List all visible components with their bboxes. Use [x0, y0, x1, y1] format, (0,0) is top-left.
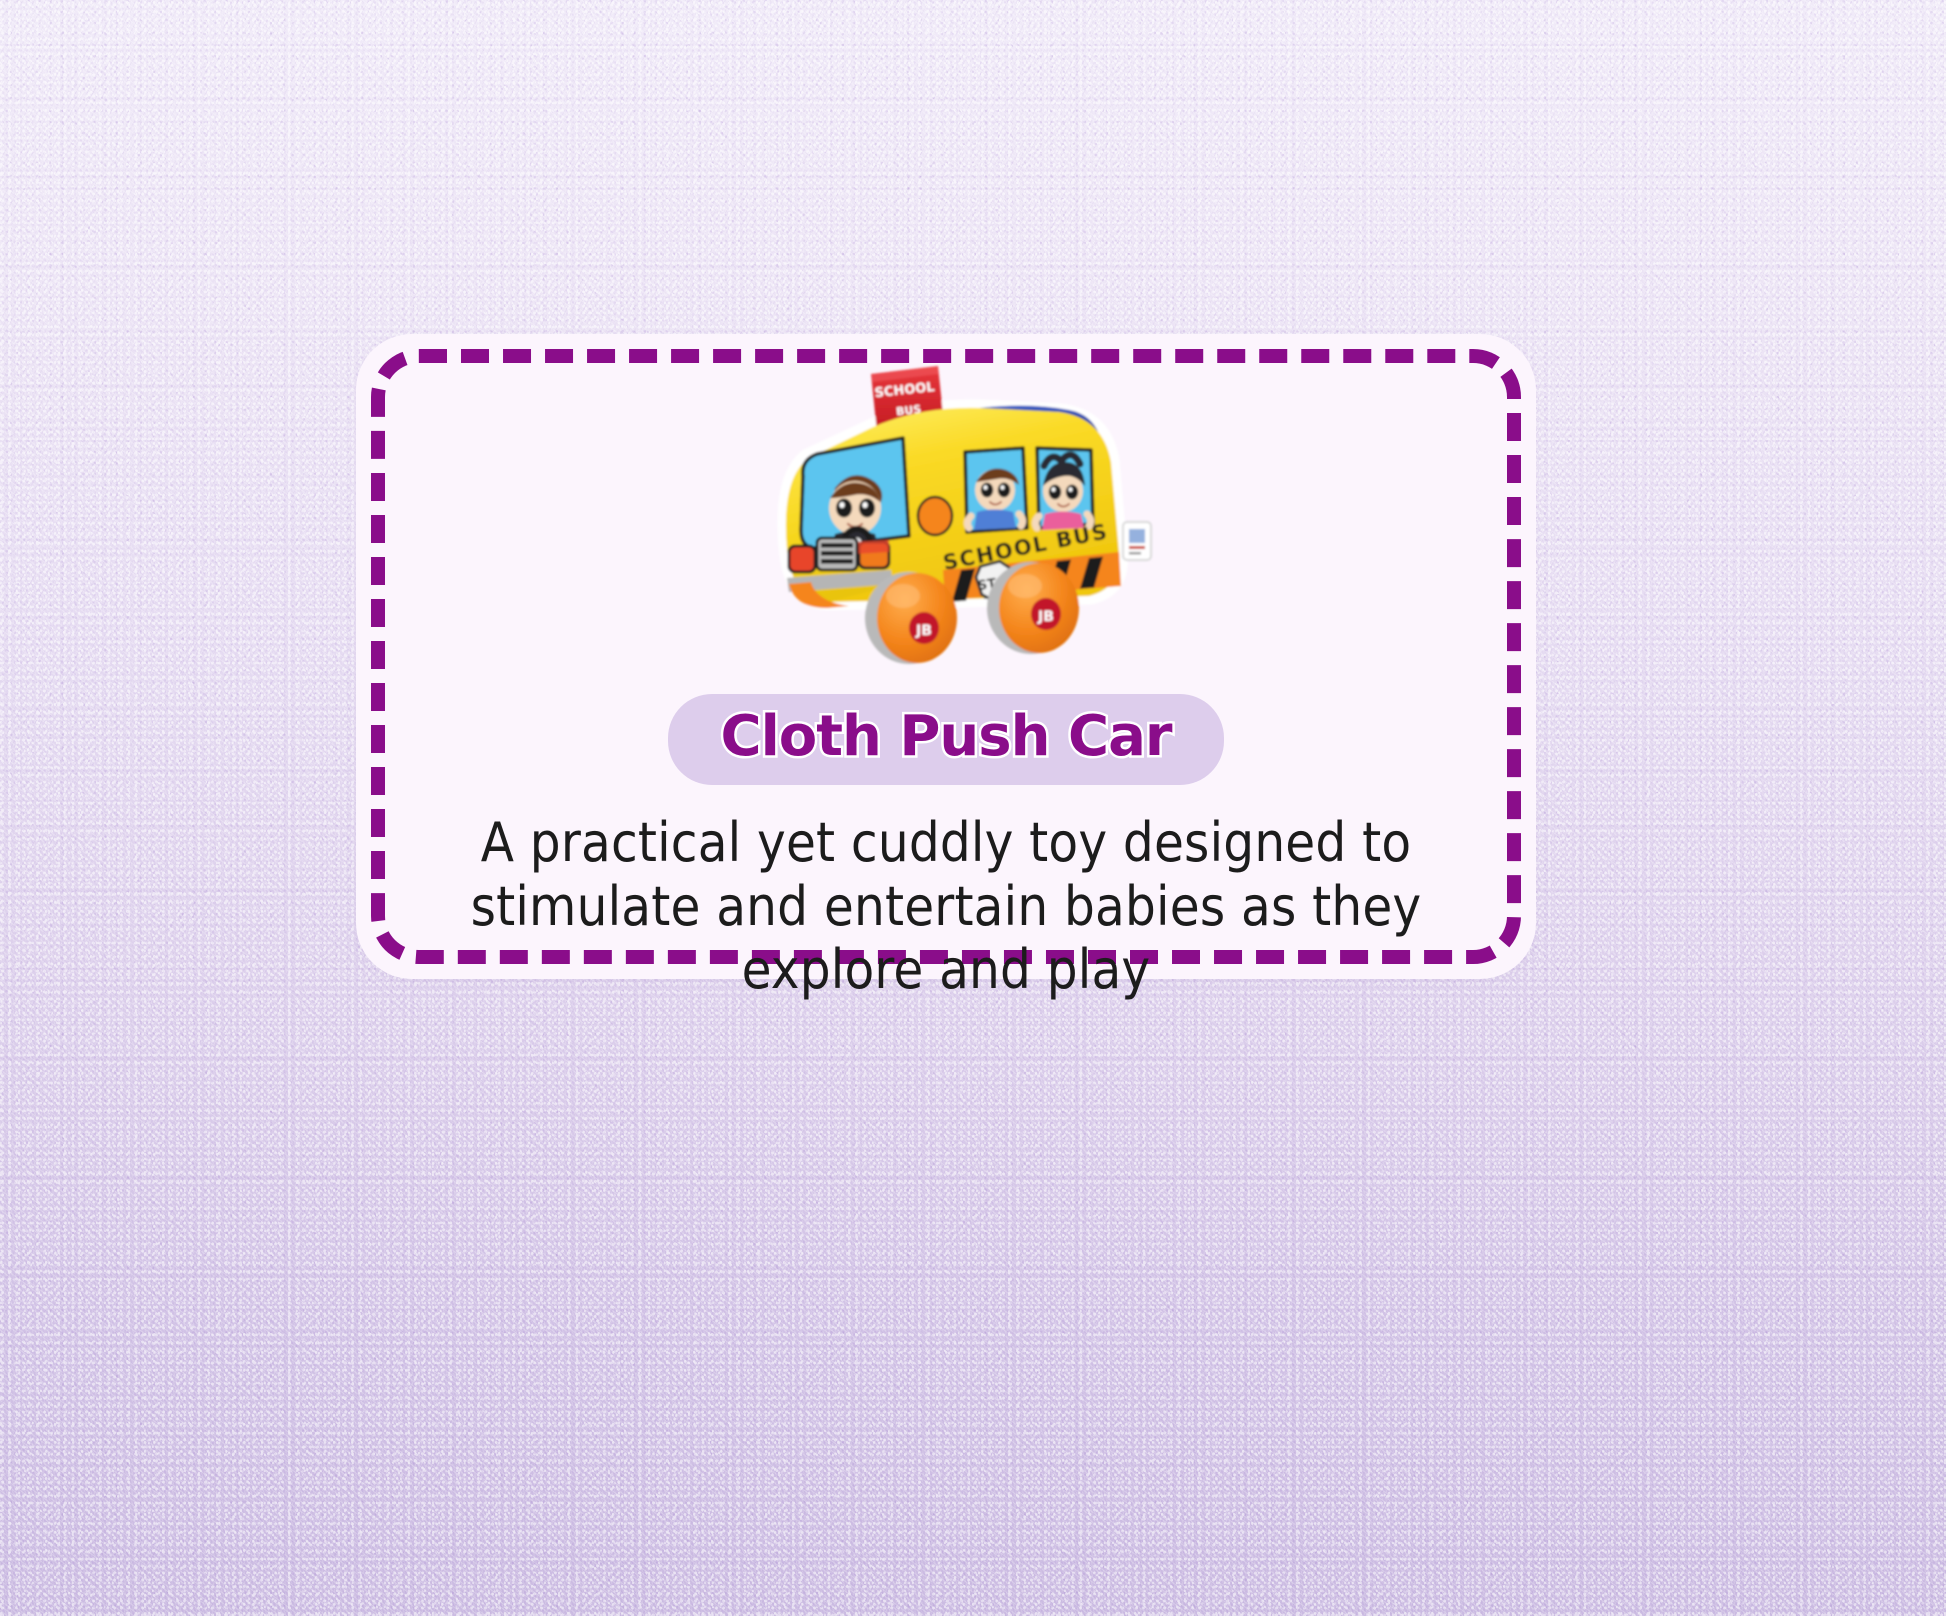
svg-text:JB: JB	[1037, 609, 1054, 625]
page-root: SCHOOL BUS	[0, 0, 1946, 1616]
product-title: Cloth Push Car	[720, 708, 1171, 767]
svg-text:JB: JB	[915, 623, 932, 639]
product-description: A practical yet cuddly toy designed to s…	[441, 811, 1451, 1002]
school-bus-plush-toy-icon: SCHOOL BUS	[731, 356, 1161, 686]
card-content: SCHOOL BUS	[356, 334, 1536, 979]
product-image: SCHOOL BUS	[731, 356, 1161, 686]
product-title-badge: Cloth Push Car	[668, 694, 1223, 785]
product-card: SCHOOL BUS	[356, 334, 1536, 979]
